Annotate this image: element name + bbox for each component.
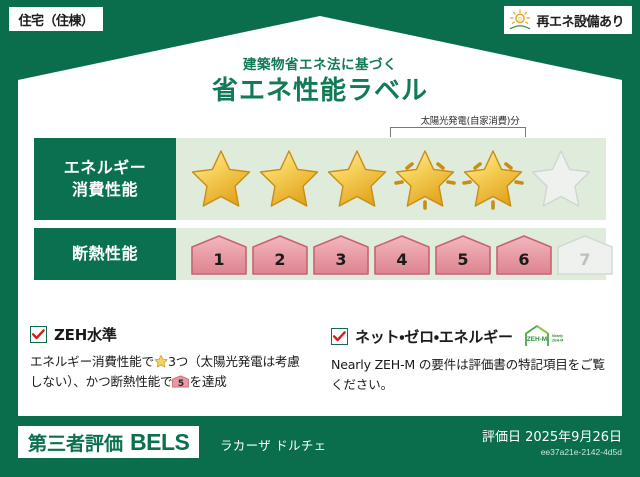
star-icon-4-solar <box>392 146 458 210</box>
house-grade-icon-3: 3 <box>312 234 370 276</box>
energy-performance-row: エネルギー 消費性能 太陽光発電(自家消費)分 <box>34 138 606 220</box>
bels-en-label: BELS <box>130 429 189 456</box>
criteria-column-zeh: ZEH水準 エネルギー消費性能で3つ（太陽光発電は考慮しない）、かつ断熱性能で5… <box>30 324 309 396</box>
star-icon-1 <box>188 146 254 210</box>
criteria-header-nzeb: ネット・ゼロ・エネルギー ZEH-M Nearly ZEH-M <box>331 324 610 348</box>
bels-certification-badge: 第三者評価 BELS <box>18 426 199 458</box>
svg-text:ZEH-M: ZEH-M <box>552 338 563 342</box>
house-grade-icon-4: 4 <box>373 234 431 276</box>
renewable-equipment-label: 再エネ設備あり <box>536 11 624 30</box>
inline-star-icon <box>154 354 168 368</box>
insulation-rating-body: 1 2 3 <box>176 228 606 280</box>
star-icon-2 <box>256 146 322 210</box>
insulation-performance-label: 断熱性能 <box>34 228 176 280</box>
house-grade-icon-7-empty: 7 <box>556 234 614 276</box>
star-icon-5-solar <box>460 146 526 210</box>
energy-label-line1: エネルギー <box>64 157 147 179</box>
inline-house-grade-icon: 5 <box>172 374 189 389</box>
evaluation-info: 評価日 2025年9月26日 ee37a21e-2142-4d5d <box>482 426 622 457</box>
star-icon-6-empty <box>528 146 594 210</box>
renewable-equipment-badge: D 再エネ設備あり <box>504 6 632 34</box>
metric-rows: エネルギー 消費性能 太陽光発電(自家消費)分 <box>34 138 606 288</box>
criteria-header-zeh: ZEH水準 <box>30 324 309 345</box>
title-block: 建築物省エネ法に基づく 省エネ性能ラベル <box>0 57 640 107</box>
energy-performance-label: 住宅（住棟） D 再エネ設備あり 建築物省エネ法に基づく 省エネ性能ラベル <box>0 0 640 477</box>
check-icon-nzeb <box>331 328 348 345</box>
check-icon-zeh <box>30 326 47 343</box>
svg-text:ZEH-M: ZEH-M <box>527 336 547 343</box>
house-grade-icon-5: 5 <box>434 234 492 276</box>
energy-rating-body: 太陽光発電(自家消費)分 <box>176 138 606 220</box>
svg-text:D: D <box>519 17 523 23</box>
zehm-house-logo: ZEH-M Nearly ZEH-M <box>523 324 565 348</box>
criteria-column-nzeb: ネット・ゼロ・エネルギー ZEH-M Nearly ZEH-M Nearly Z… <box>331 324 610 396</box>
criteria-section: ZEH水準 エネルギー消費性能で3つ（太陽光発電は考慮しない）、かつ断熱性能で5… <box>30 324 610 396</box>
solar-annotation-bracket <box>390 127 526 137</box>
house-grade-icon-1: 1 <box>190 234 248 276</box>
label-subtitle: 建築物省エネ法に基づく <box>0 57 640 73</box>
house-grade-icon-2: 2 <box>251 234 309 276</box>
dwelling-type-badge: 住宅（住棟） <box>8 6 104 32</box>
star-icon-3 <box>324 146 390 210</box>
energy-label-line2: 消費性能 <box>72 179 138 201</box>
house-grade-icon-6: 6 <box>495 234 553 276</box>
criteria-text-zeh: エネルギー消費性能で3つ（太陽光発電は考慮しない）、かつ断熱性能で5を達成 <box>30 352 309 393</box>
bels-jp-label: 第三者評価 <box>28 429 123 456</box>
label-title: 省エネ性能ラベル <box>0 77 640 107</box>
evaluation-id: ee37a21e-2142-4d5d <box>482 447 622 457</box>
solar-sun-icon: D <box>508 9 532 31</box>
inline-grade-number: 5 <box>172 377 189 389</box>
footer-bar: 第三者評価 BELS ラカーザ ドルチェ 評価日 2025年9月26日 ee37… <box>0 416 640 477</box>
building-name: ラカーザ ドルチェ <box>220 435 326 454</box>
dwelling-type-label: 住宅（住棟） <box>18 10 93 29</box>
evaluation-date: 評価日 2025年9月26日 <box>482 426 622 445</box>
insulation-label-line1: 断熱性能 <box>72 243 138 265</box>
svg-text:Nearly: Nearly <box>552 334 563 338</box>
solar-annotation-text: 太陽光発電(自家消費)分 <box>390 113 550 127</box>
criteria-text-zeh-part3: を達成 <box>189 374 226 389</box>
star-rating <box>188 146 594 210</box>
criteria-title-nzeb: ネット・ゼロ・エネルギー <box>355 326 513 347</box>
criteria-title-zeh: ZEH水準 <box>54 324 117 345</box>
criteria-text-nzeb: Nearly ZEH-M の要件は評価書の特記項目をご覧ください。 <box>331 355 610 396</box>
grade-scale: 1 2 3 <box>190 234 614 276</box>
criteria-text-zeh-part1: エネルギー消費性能で <box>30 354 154 369</box>
energy-performance-label: エネルギー 消費性能 <box>34 138 176 220</box>
insulation-performance-row: 断熱性能 <box>34 228 606 280</box>
